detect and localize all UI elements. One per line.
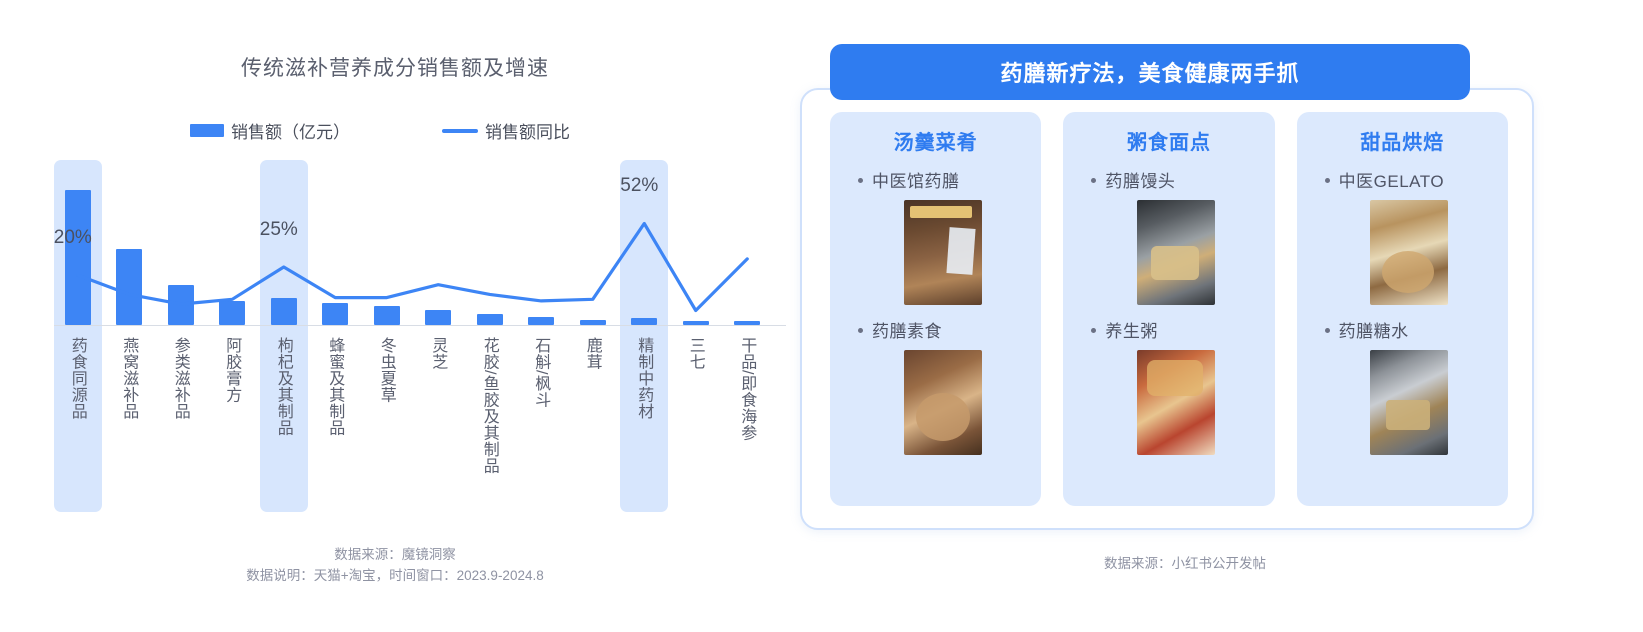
x-axis-label: 枸杞及其制品 <box>275 337 291 436</box>
legend-line-swatch-icon <box>442 129 478 133</box>
data-label: 52% <box>620 175 658 197</box>
x-axis-label: 药食同源品 <box>69 337 85 420</box>
x-axis-label: 鹿茸 <box>584 337 600 370</box>
bullet-dot-icon <box>858 328 863 333</box>
x-axis-label: 三七 <box>687 337 703 370</box>
x-axis-label: 花胶/鱼胶及其制品 <box>481 337 497 474</box>
legend-label-sales: 销售额（亿元） <box>231 118 350 143</box>
chart-title: 传统滋补营养成分销售额及增速 <box>0 52 790 82</box>
tcm-gelato-photo <box>1370 200 1448 305</box>
growth-line <box>78 224 748 311</box>
x-axis-label: 石斛/枫斗 <box>532 337 548 408</box>
bullet-dot-icon <box>1325 178 1330 183</box>
case-bullet-row: 中医馆药膳 <box>840 167 1031 192</box>
legend-label-growth: 销售额同比 <box>485 118 570 143</box>
cases-footnote: 数据来源：小红书公开发帖 <box>790 552 1580 572</box>
x-axis-label: 阿胶膏方 <box>223 337 239 403</box>
case-bullet-row: 养生粥 <box>1073 317 1264 342</box>
chart-panel: 传统滋补营养成分销售额及增速 销售额（亿元） 销售额同比 20%25%52% 药… <box>0 0 800 632</box>
tcm-clinic-medicinal-meal-photo <box>904 200 982 305</box>
case-card[interactable]: 汤羹菜肴中医馆药膳药膳素食 <box>830 112 1041 506</box>
medicinal-sweet-soup-photo <box>1370 350 1448 455</box>
legend-item-growth: 销售额同比 <box>442 118 570 143</box>
chart-footnote-note: 数据说明：天猫+淘宝，时间窗口：2023.9-2024.8 <box>0 566 790 587</box>
case-card-title: 甜品烘焙 <box>1360 126 1444 155</box>
case-card-title: 粥食面点 <box>1127 126 1211 155</box>
line-series <box>46 160 786 330</box>
x-axis-label: 蜂蜜及其制品 <box>326 337 342 436</box>
cases-panel: 药膳新疗法，美食健康两手抓 汤羹菜肴中医馆药膳药膳素食粥食面点药膳馒头养生粥甜品… <box>790 0 1643 632</box>
bullet-dot-icon <box>1325 328 1330 333</box>
bullet-dot-icon <box>1091 328 1096 333</box>
health-porridge-photo <box>1137 350 1215 455</box>
cases-shell: 汤羹菜肴中医馆药膳药膳素食粥食面点药膳馒头养生粥甜品烘焙中医GELATO药膳糖水 <box>800 88 1534 530</box>
x-axis-label: 燕窝滋补品 <box>120 337 136 420</box>
case-bullet-label: 中医GELATO <box>1339 167 1444 192</box>
data-label: 20% <box>54 227 92 249</box>
chart-footnote-source: 数据来源：魔镜洞察 <box>0 545 790 566</box>
data-label: 25% <box>260 219 298 241</box>
case-bullet-label: 药膳糖水 <box>1339 317 1409 342</box>
bullet-dot-icon <box>1091 178 1096 183</box>
x-axis-label: 参类滋补品 <box>172 337 188 420</box>
page-root: 传统滋补营养成分销售额及增速 销售额（亿元） 销售额同比 20%25%52% 药… <box>0 0 1643 632</box>
case-bullet-label: 养生粥 <box>1105 317 1158 342</box>
legend-item-sales: 销售额（亿元） <box>190 118 350 143</box>
case-bullet-label: 药膳素食 <box>872 317 942 342</box>
x-axis-label: 干品/即食海参 <box>738 337 754 441</box>
bullet-dot-icon <box>858 178 863 183</box>
case-card[interactable]: 粥食面点药膳馒头养生粥 <box>1063 112 1274 506</box>
legend-bar-swatch-icon <box>190 124 224 137</box>
x-axis-label: 冬虫夏草 <box>378 337 394 403</box>
chart-legend: 销售额（亿元） 销售额同比 <box>0 118 760 143</box>
case-bullet-row: 药膳素食 <box>840 317 1031 342</box>
medicinal-vegetarian-meal-photo <box>904 350 982 455</box>
case-card[interactable]: 甜品烘焙中医GELATO药膳糖水 <box>1297 112 1508 506</box>
x-axis-label: 灵芝 <box>429 337 445 370</box>
case-bullet-label: 药膳馒头 <box>1105 167 1175 192</box>
x-axis-label: 精制中药材 <box>635 337 651 420</box>
medicinal-steamed-bun-photo <box>1137 200 1215 305</box>
chart-plot-area: 20%25%52% 药食同源品燕窝滋补品参类滋补品阿胶膏方枸杞及其制品蜂蜜及其制… <box>46 160 786 525</box>
case-bullet-row: 药膳馒头 <box>1073 167 1264 192</box>
cases-card-list: 汤羹菜肴中医馆药膳药膳素食粥食面点药膳馒头养生粥甜品烘焙中医GELATO药膳糖水 <box>830 112 1508 506</box>
cases-ribbon-title: 药膳新疗法，美食健康两手抓 <box>830 44 1470 100</box>
chart-footnotes: 数据来源：魔镜洞察 数据说明：天猫+淘宝，时间窗口：2023.9-2024.8 <box>0 545 790 587</box>
case-card-title: 汤羹菜肴 <box>894 126 978 155</box>
case-bullet-label: 中医馆药膳 <box>872 167 960 192</box>
case-bullet-row: 中医GELATO <box>1307 167 1498 192</box>
case-bullet-row: 药膳糖水 <box>1307 317 1498 342</box>
